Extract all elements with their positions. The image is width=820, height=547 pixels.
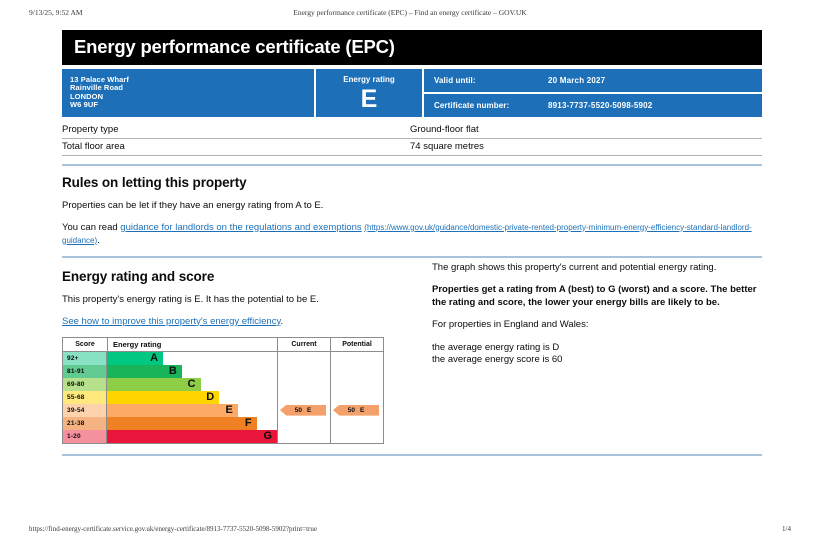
current-rating-letter: E <box>307 407 311 414</box>
print-header: 9/13/25, 9:52 AM Energy performance cert… <box>0 8 820 20</box>
epc-band-row: 39-54 E 50 E 50 <box>63 404 383 417</box>
band-score-range-e: 39-54 <box>63 404 107 417</box>
band-bar-f: F <box>107 417 257 430</box>
epc-document: Energy performance certificate (EPC) 13 … <box>62 30 762 456</box>
potential-score-value: 50 <box>348 407 355 414</box>
potential-cell-a <box>331 352 383 365</box>
band-bar-b: B <box>107 365 182 378</box>
property-type-label: Property type <box>62 124 410 135</box>
column-header-potential: Potential <box>331 338 383 351</box>
valid-until-label: Valid until: <box>434 76 548 85</box>
band-score-range-d: 55-68 <box>63 391 107 404</box>
current-cell-g <box>278 430 331 443</box>
current-cell-f <box>278 417 331 430</box>
section-divider <box>62 256 762 258</box>
print-page-number: 1/4 <box>782 525 791 533</box>
potential-rating-arrow: 50 E <box>333 405 379 416</box>
address-line-4: W6 9UF <box>70 101 314 109</box>
band-score-range-g: 1-20 <box>63 430 107 443</box>
band-score-range-a: 92+ <box>63 352 107 365</box>
rules-section-heading: Rules on letting this property <box>62 175 762 190</box>
band-bar-c: C <box>107 378 201 391</box>
rating-paragraph: This property's energy rating is E. It h… <box>62 293 432 306</box>
table-row: Property type Ground-floor flat <box>62 122 762 139</box>
certificate-number-value: 8913-7737-5520-5098-5902 <box>548 101 652 110</box>
page-title: Energy performance certificate (EPC) <box>62 30 762 65</box>
total-floor-area-label: Total floor area <box>62 141 410 152</box>
column-header-score: Score <box>63 338 108 351</box>
total-floor-area-value: 74 square metres <box>410 141 762 152</box>
band-bar-area-b: B <box>107 365 278 378</box>
epc-band-row: 69-80 C <box>63 378 383 391</box>
print-source-url: https://find-energy-certificate.service.… <box>29 525 317 533</box>
property-address: 13 Palace Wharf Rainville Road LONDON W6… <box>62 69 314 117</box>
rating-section-heading: Energy rating and score <box>62 269 432 284</box>
current-rating-arrow: 50 E <box>280 405 326 416</box>
valid-until-row: Valid until: 20 March 2027 <box>424 69 762 92</box>
epc-band-row: 81-91 B <box>63 365 383 378</box>
band-bar-area-d: D <box>107 391 278 404</box>
rules-guidance-trailing: . <box>97 235 100 246</box>
improve-efficiency-paragraph: See how to improve this property's energ… <box>62 315 432 328</box>
potential-cell-d <box>331 391 383 404</box>
rating-right-column: The graph shows this property's current … <box>432 260 762 444</box>
section-divider <box>62 454 762 456</box>
band-bar-area-f: F <box>107 417 278 430</box>
column-header-current: Current <box>278 338 331 351</box>
improve-efficiency-link[interactable]: See how to improve this property's energ… <box>62 316 281 327</box>
current-score-value: 50 <box>295 407 302 414</box>
rules-guidance-lead-in: You can read <box>62 222 120 233</box>
column-header-energy-rating: Energy rating <box>108 338 278 351</box>
address-line-2: Rainville Road <box>70 84 314 92</box>
potential-cell-f <box>331 417 383 430</box>
band-score-range-c: 69-80 <box>63 378 107 391</box>
potential-rating-letter: E <box>360 407 364 414</box>
band-bar-area-a: A <box>107 352 278 365</box>
certificate-number-row: Certificate number: 8913-7737-5520-5098-… <box>424 94 762 117</box>
band-bar-area-e: E <box>107 404 278 417</box>
energy-rating-value: E <box>316 86 422 113</box>
improve-efficiency-trailing: . <box>281 316 284 327</box>
rating-scale-note: Properties get a rating from A (best) to… <box>432 284 762 309</box>
band-bar-e: E <box>107 404 238 417</box>
current-cell-c <box>278 378 331 391</box>
epc-band-row: 1-20 G <box>63 430 383 443</box>
energy-rating-badge: Energy rating E <box>316 69 422 117</box>
potential-cell-c <box>331 378 383 391</box>
current-cell-e: 50 E <box>278 404 331 417</box>
average-energy-rating: the average energy rating is D <box>432 342 762 355</box>
section-divider <box>62 164 762 166</box>
region-intro: For properties in England and Wales: <box>432 319 762 332</box>
rating-left-column: Energy rating and score This property's … <box>62 260 432 444</box>
epc-band-row: 92+ A <box>63 352 383 365</box>
band-bar-area-c: C <box>107 378 278 391</box>
certificate-number-label: Certificate number: <box>434 101 548 110</box>
band-bar-area-g: G <box>107 430 278 443</box>
print-document-title: Energy performance certificate (EPC) – F… <box>0 8 820 17</box>
rules-guidance-paragraph: You can read guidance for landlords on t… <box>62 221 762 247</box>
epc-graph-rows: 92+ A 81-91 B <box>63 352 383 443</box>
current-cell-b <box>278 365 331 378</box>
graph-explanation: The graph shows this property's current … <box>432 262 762 275</box>
certificate-summary: 13 Palace Wharf Rainville Road LONDON W6… <box>62 69 762 117</box>
valid-until-value: 20 March 2027 <box>548 76 605 85</box>
band-bar-a: A <box>107 352 163 365</box>
epc-band-row: 21-38 F <box>63 417 383 430</box>
print-footer: https://find-energy-certificate.service.… <box>0 525 820 537</box>
certificate-meta: Valid until: 20 March 2027 Certificate n… <box>424 69 762 117</box>
band-bar-g: G <box>107 430 277 443</box>
band-score-range-f: 21-38 <box>63 417 107 430</box>
band-bar-d: D <box>107 391 219 404</box>
band-score-range-b: 81-91 <box>63 365 107 378</box>
potential-cell-g <box>331 430 383 443</box>
property-type-value: Ground-floor flat <box>410 124 762 135</box>
energy-rating-label: Energy rating <box>316 75 422 85</box>
average-energy-score: the average energy score is 60 <box>432 354 762 367</box>
epc-rating-graph: Score Energy rating Current Potential 92… <box>62 337 384 444</box>
landlord-guidance-link[interactable]: guidance for landlords on the regulation… <box>120 222 361 233</box>
rules-paragraph: Properties can be let if they have an en… <box>62 199 762 212</box>
potential-cell-e: 50 E <box>331 404 383 417</box>
rating-and-score-section: Energy rating and score This property's … <box>62 260 762 444</box>
current-cell-d <box>278 391 331 404</box>
property-details-table: Property type Ground-floor flat Total fl… <box>62 122 762 156</box>
current-cell-a <box>278 352 331 365</box>
epc-band-row: 55-68 D <box>63 391 383 404</box>
address-line-3: LONDON <box>70 93 314 101</box>
potential-cell-b <box>331 365 383 378</box>
table-row: Total floor area 74 square metres <box>62 139 762 156</box>
epc-graph-header: Score Energy rating Current Potential <box>63 338 383 352</box>
